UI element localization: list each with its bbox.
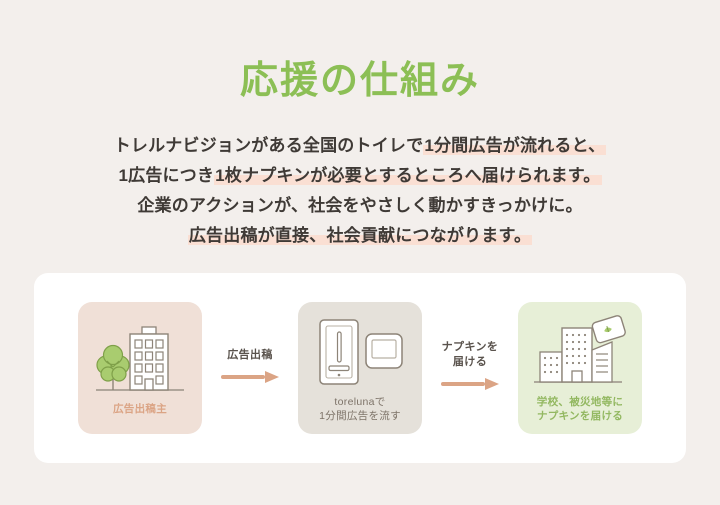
copy-segment-highlight: 1枚ナプキンが必要とするところへ届けられます。 <box>214 166 601 185</box>
arrow-bar <box>221 375 265 379</box>
flow-step-label: torelunaで 1分間広告を流す <box>319 395 401 423</box>
flow-step-label-line: 1分間広告を流す <box>319 409 401 423</box>
copy-segment-highlight: 広告出稿が直接、社会貢献につながります。 <box>188 226 532 245</box>
flow-step-label-line: torelunaで <box>319 395 401 409</box>
body-copy: トレルナビジョンがある全国のトイレで1分間広告が流れると、 1広告につき1枚ナプ… <box>0 131 720 251</box>
flow-step-label: 広告出稿主 <box>113 402 167 416</box>
flow-arrow-label-line: ナプキンを <box>442 340 499 355</box>
flow-step-label: 学校、被災地等に ナプキンを届ける <box>537 395 623 423</box>
flow-arrow-ad-placement: 広告出稿 <box>202 348 298 389</box>
flow-step-label-line: 広告出稿主 <box>113 402 167 416</box>
copy-segment-highlight: 1分間広告が流れると、 <box>423 136 606 155</box>
copy-line-4: 広告出稿が直接、社会貢献につながります。 <box>0 221 720 251</box>
office-building-with-tree-icon <box>92 319 188 395</box>
copy-line-2: 1広告につき1枚ナプキンが必要とするところへ届けられます。 <box>0 161 720 191</box>
arrow-head <box>265 371 279 383</box>
copy-line-3: 企業のアクションが、社会をやさしく動かすきっかけに。 <box>0 191 720 221</box>
arrow-right-icon <box>221 371 279 383</box>
flow-step-delivery[interactable]: 学校、被災地等に ナプキンを届ける <box>518 302 642 434</box>
buildings-with-napkin-pack-icon <box>530 312 630 388</box>
flow-diagram-card: 広告出稿主 広告出稿 <box>34 273 686 463</box>
page-title: 応援の仕組み <box>0 25 720 105</box>
flow-arrow-napkin-delivery: ナプキンを 届ける <box>422 340 518 396</box>
copy-segment-plain: 企業のアクションが、社会をやさしく動かすきっかけに。 <box>137 196 582 215</box>
flow-step-toreluna-display[interactable]: torelunaで 1分間広告を流す <box>298 302 422 434</box>
arrow-right-icon <box>441 378 499 390</box>
arrow-bar <box>441 382 485 386</box>
flow-step-advertiser[interactable]: 広告出稿主 <box>78 302 202 434</box>
flow-arrow-label-line: 届ける <box>442 355 499 370</box>
copy-segment-plain: 1広告につき <box>119 166 215 185</box>
restroom-door-and-display-icon <box>312 312 408 388</box>
flow-arrow-label: 広告出稿 <box>227 348 273 363</box>
flow-step-label-line: 学校、被災地等に <box>537 395 623 409</box>
flow-arrow-label: ナプキンを 届ける <box>442 340 499 370</box>
flow-step-label-line: ナプキンを届ける <box>537 409 623 423</box>
copy-line-1: トレルナビジョンがある全国のトイレで1分間広告が流れると、 <box>0 131 720 161</box>
arrow-head <box>485 378 499 390</box>
copy-segment-plain: トレルナビジョンがある全国のトイレで <box>114 136 424 155</box>
flow-arrow-label-line: 広告出稿 <box>227 348 273 363</box>
